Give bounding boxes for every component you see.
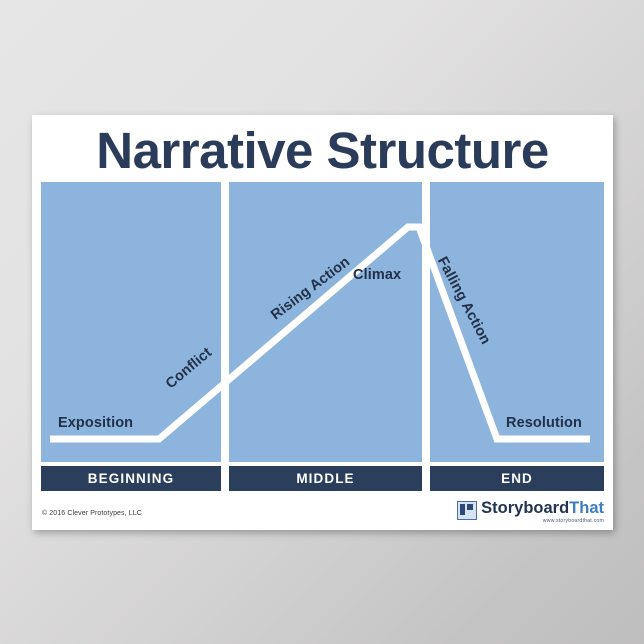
storyboardthat-logo[interactable]: StoryboardThat www.storyboardthat.com: [457, 499, 604, 527]
logo-url: www.storyboardthat.com: [481, 518, 604, 525]
narrative-arc-diagram: Exposition Conflict Rising Action Climax…: [41, 182, 604, 462]
poster-content: Narrative Structure Exposition Conflict …: [32, 115, 613, 530]
stage-band-middle: MIDDLE: [229, 466, 422, 491]
storyboard-panel-icon: [457, 501, 477, 520]
label-climax: Climax: [353, 267, 401, 283]
logo-word-storyboard: Storyboard: [481, 499, 569, 517]
poster-footer: © 2016 Clever Prototypes, LLC Storyboard…: [32, 498, 613, 530]
logo-text: StoryboardThat www.storyboardthat.com: [481, 499, 604, 525]
screenshot-canvas: Narrative Structure Exposition Conflict …: [0, 0, 644, 644]
copyright-text: © 2016 Clever Prototypes, LLC: [42, 510, 142, 517]
page-title: Narrative Structure: [32, 121, 613, 181]
stage-band-beginning: BEGINNING: [41, 466, 221, 491]
stage-band-row: BEGINNING MIDDLE END: [41, 466, 604, 491]
logo-wordmark: StoryboardThat: [481, 499, 604, 518]
logo-word-that: That: [569, 499, 604, 517]
label-exposition: Exposition: [58, 415, 133, 431]
label-resolution: Resolution: [506, 415, 582, 431]
arc-polyline: [50, 227, 590, 439]
narrative-structure-poster: Narrative Structure Exposition Conflict …: [32, 115, 613, 530]
stage-band-end: END: [430, 466, 604, 491]
